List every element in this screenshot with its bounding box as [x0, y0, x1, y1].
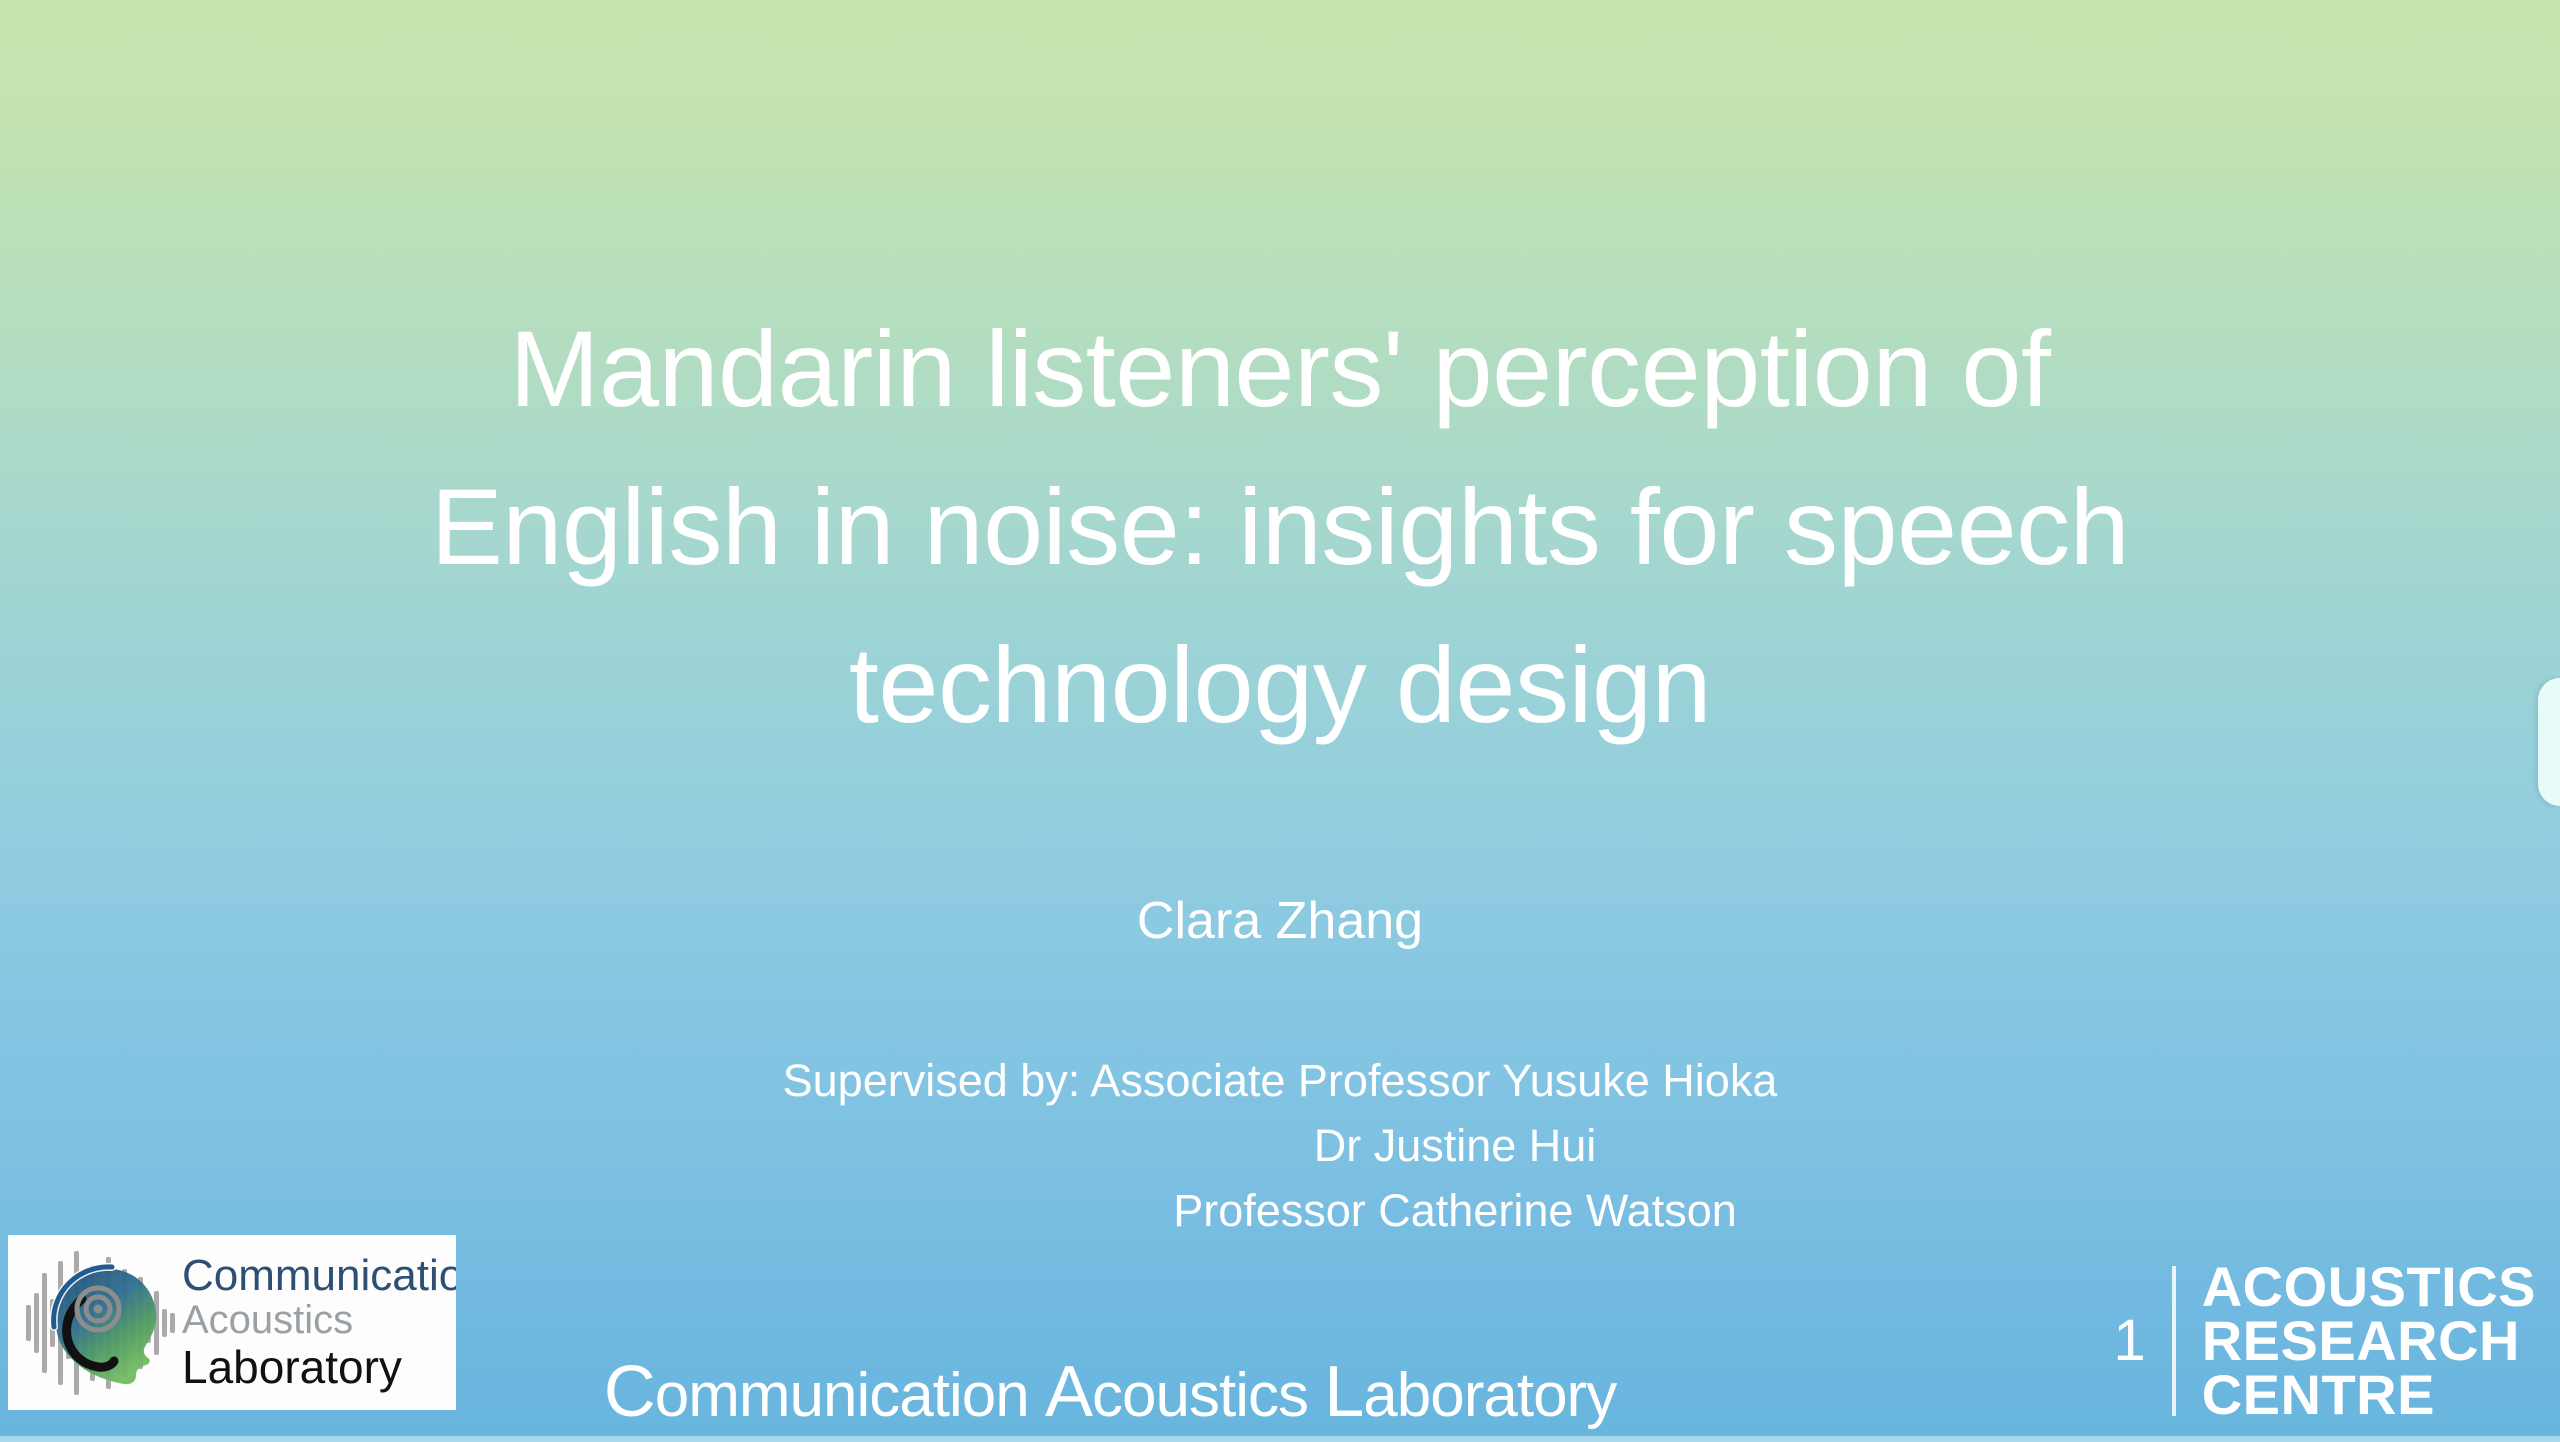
right-edge-panel[interactable]: [2538, 678, 2560, 806]
footer-cap-l: L: [1324, 1352, 1363, 1432]
footer-cap-c: C: [604, 1352, 655, 1432]
presentation-slide: Mandarin listeners' perception of Englis…: [0, 0, 2560, 1442]
cal-wordmark-line-2: Acoustics: [182, 1298, 456, 1342]
footer-brand-space-2: [1308, 1361, 1324, 1430]
cal-wordmark-line-1: Communication: [182, 1254, 456, 1298]
acoustics-research-centre-logo: ACOUSTICS RESEARCH CENTRE: [2202, 1260, 2536, 1422]
supervisor-list: Supervised by: Associate Professor Yusuk…: [0, 1048, 2560, 1243]
supervisor-line-3: Professor Catherine Watson: [0, 1178, 2560, 1243]
arc-line-1: ACOUSTICS: [2202, 1260, 2536, 1314]
supervisor-line-1: Supervised by: Associate Professor Yusuk…: [0, 1048, 2560, 1113]
title-line-2: English in noise: insights for speech: [170, 448, 2390, 606]
head-waveform-icon: [20, 1243, 180, 1403]
footer-rest-communication: ommunication: [655, 1361, 1029, 1430]
bottom-edge-strip: [0, 1436, 2560, 1442]
arc-line-2: RESEARCH: [2202, 1314, 2536, 1368]
cal-wordmark-line-3: Laboratory: [182, 1342, 456, 1392]
footer-right-block: 1 ACOUSTICS RESEARCH CENTRE: [2113, 1260, 2536, 1422]
footer-brand-space-1: [1029, 1361, 1045, 1430]
footer-brand-word-communication: Communication: [604, 1361, 1029, 1430]
page-number: 1: [2113, 1312, 2145, 1370]
slide-title: Mandarin listeners' perception of Englis…: [0, 290, 2560, 764]
footer-brand-word-laboratory: Laboratory: [1324, 1361, 1616, 1430]
title-line-1: Mandarin listeners' perception of: [170, 290, 2390, 448]
footer-rest-acoustics: coustics: [1092, 1361, 1308, 1430]
communication-acoustics-laboratory-logo: Communication Acoustics Laboratory: [8, 1235, 456, 1410]
vertical-divider: [2172, 1266, 2176, 1416]
footer-brand-word-acoustics: Acoustics: [1045, 1361, 1308, 1430]
footer-rest-laboratory: aboratory: [1363, 1361, 1616, 1430]
supervisor-line-2: Dr Justine Hui: [0, 1113, 2560, 1178]
cal-wordmark-text: Communication Acoustics Laboratory: [182, 1254, 456, 1392]
author-name: Clara Zhang: [0, 890, 2560, 952]
footer-cap-a: A: [1045, 1352, 1092, 1432]
arc-line-3: CENTRE: [2202, 1368, 2536, 1422]
title-line-3: technology design: [170, 606, 2390, 764]
